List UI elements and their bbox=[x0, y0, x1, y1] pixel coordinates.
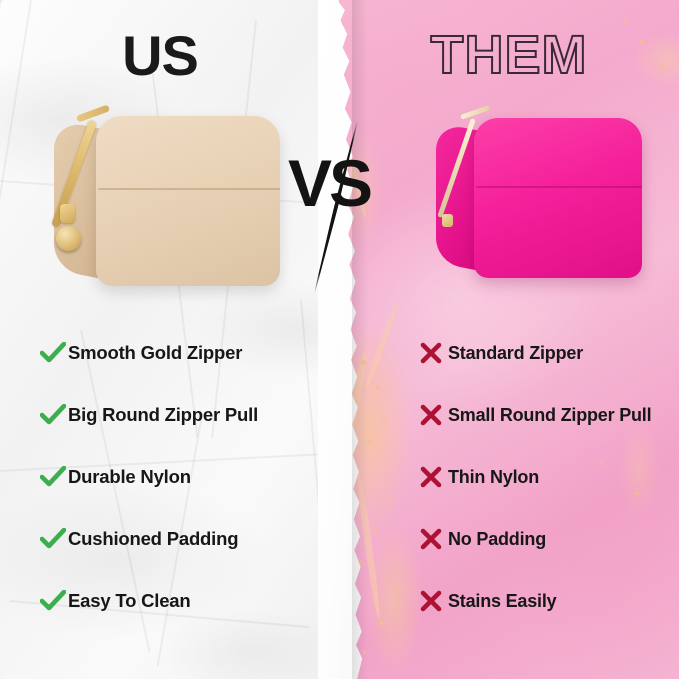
list-item-label: Thin Nylon bbox=[448, 467, 539, 488]
comparison-infographic: US THEM VS Smooth Gold Zipper bbox=[0, 0, 679, 679]
zipper-track-icon bbox=[76, 104, 110, 122]
list-item: Thin Nylon bbox=[420, 446, 670, 508]
list-item-label: Durable Nylon bbox=[68, 466, 191, 488]
cross-icon bbox=[420, 404, 448, 426]
check-icon bbox=[40, 342, 68, 364]
list-item: No Padding bbox=[420, 508, 670, 570]
list-item: Big Round Zipper Pull bbox=[40, 384, 325, 446]
list-item: Easy To Clean bbox=[40, 570, 325, 632]
feature-list-them: Standard Zipper Small Round Zipper Pull … bbox=[420, 322, 670, 632]
product-image-pink-bag bbox=[428, 108, 638, 288]
cross-icon bbox=[420, 466, 448, 488]
check-icon bbox=[40, 404, 68, 426]
list-item-label: Easy To Clean bbox=[68, 590, 191, 612]
list-item: Durable Nylon bbox=[40, 446, 325, 508]
list-item: Small Round Zipper Pull bbox=[420, 384, 670, 446]
list-item-label: Small Round Zipper Pull bbox=[448, 405, 651, 426]
zipper-track-icon bbox=[460, 105, 490, 119]
zipper-slider-icon bbox=[60, 204, 75, 223]
list-item: Standard Zipper bbox=[420, 322, 670, 384]
list-item-label: No Padding bbox=[448, 529, 546, 550]
heading-them: THEM bbox=[339, 28, 679, 82]
list-item-label: Standard Zipper bbox=[448, 343, 583, 364]
list-item: Cushioned Padding bbox=[40, 508, 325, 570]
list-item-label: Big Round Zipper Pull bbox=[68, 404, 258, 426]
list-item-label: Cushioned Padding bbox=[68, 528, 238, 550]
check-icon bbox=[40, 590, 68, 612]
cross-icon bbox=[420, 590, 448, 612]
list-item-label: Smooth Gold Zipper bbox=[68, 342, 242, 364]
feature-list-us: Smooth Gold Zipper Big Round Zipper Pull… bbox=[40, 322, 325, 632]
heading-us: US bbox=[0, 28, 320, 84]
list-item-label: Stains Easily bbox=[448, 591, 556, 612]
list-item: Stains Easily bbox=[420, 570, 670, 632]
round-zipper-pull-icon bbox=[56, 226, 81, 251]
cross-icon bbox=[420, 528, 448, 550]
check-icon bbox=[40, 528, 68, 550]
versus-badge: VS bbox=[288, 150, 398, 260]
product-image-beige-bag bbox=[48, 104, 280, 294]
list-item: Smooth Gold Zipper bbox=[40, 322, 325, 384]
cross-icon bbox=[420, 342, 448, 364]
check-icon bbox=[40, 466, 68, 488]
small-zipper-pull-icon bbox=[442, 214, 453, 227]
